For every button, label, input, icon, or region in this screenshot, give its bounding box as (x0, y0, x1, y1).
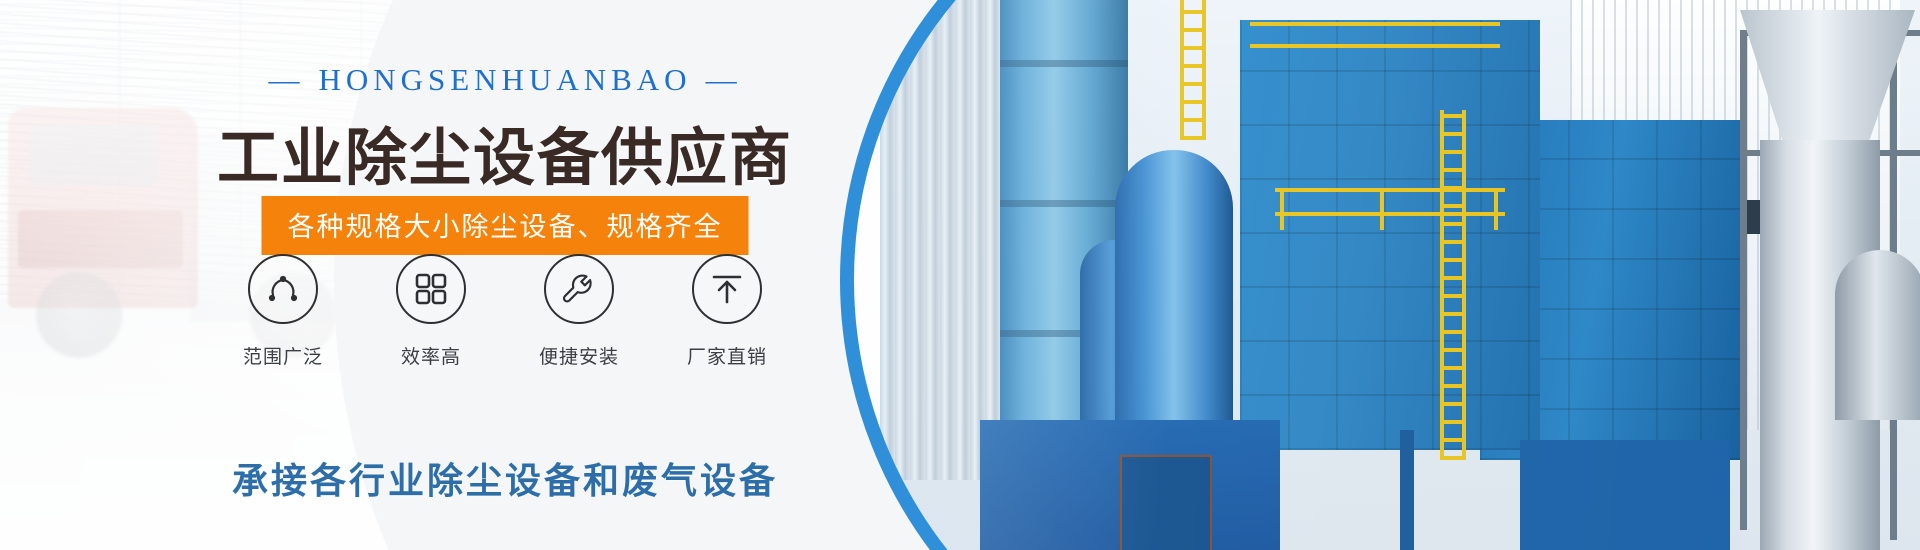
feature-item-wide-range[interactable]: 范围广泛 (238, 254, 328, 369)
banner-content: —HONGSENHUANBAO— 工业除尘设备供应商 各种规格大小除尘设备、规格… (0, 0, 1010, 550)
feature-icon-circle (396, 254, 466, 324)
page-title: 工业除尘设备供应商 (0, 107, 1010, 197)
network-nodes-icon (264, 270, 302, 308)
feature-item-easy-install[interactable]: 便捷安装 (534, 254, 624, 369)
feature-item-factory-direct[interactable]: 厂家直销 (682, 254, 772, 369)
eyebrow-dash-left: — (254, 62, 318, 98)
feature-icon-circle (544, 254, 614, 324)
four-squares-grid-icon (414, 272, 448, 306)
hero-banner: —HONGSENHUANBAO— 工业除尘设备供应商 各种规格大小除尘设备、规格… (0, 0, 1920, 550)
feature-icon-circle (248, 254, 318, 324)
feature-icon-circle (692, 254, 762, 324)
wrench-icon (560, 270, 598, 308)
feature-label: 范围广泛 (238, 342, 328, 369)
brand-eyebrow: —HONGSENHUANBAO— (0, 62, 1010, 98)
feature-label: 效率高 (386, 342, 476, 369)
banner-tagline: 承接各行业除尘设备和废气设备 (0, 452, 1010, 504)
feature-label: 厂家直销 (682, 342, 772, 369)
eyebrow-text: HONGSENHUANBAO (318, 62, 691, 97)
upload-arrow-icon (710, 272, 744, 306)
feature-list: 范围广泛 效率高 (0, 254, 1010, 369)
feature-label: 便捷安装 (534, 342, 624, 369)
feature-item-high-efficiency[interactable]: 效率高 (386, 254, 476, 369)
eyebrow-dash-right: — (692, 62, 756, 98)
highlight-bar: 各种规格大小除尘设备、规格齐全 (262, 196, 749, 255)
